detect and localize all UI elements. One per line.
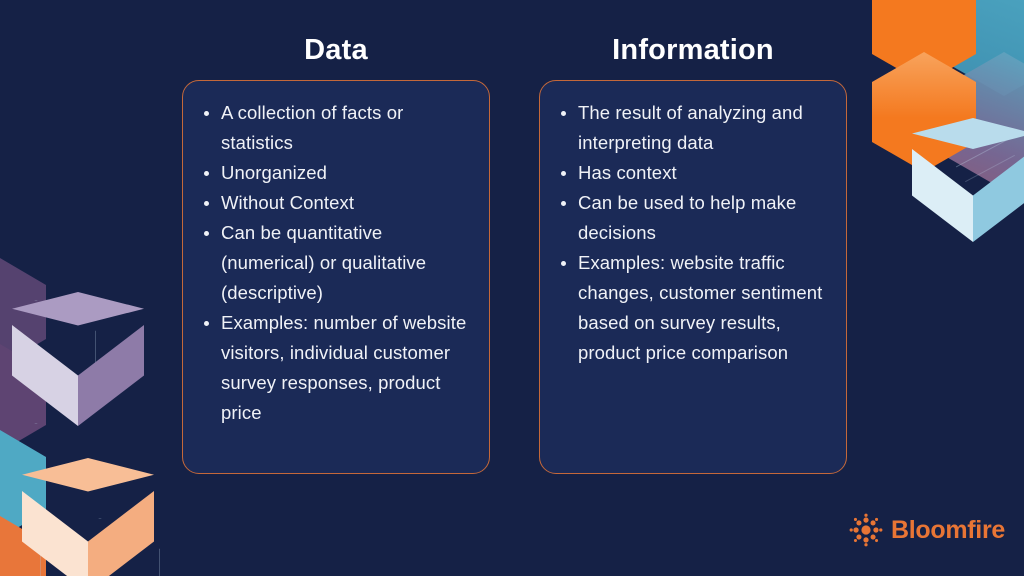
list-item: Examples: website traffic changes, custo… [552, 248, 834, 368]
teal-purple-hexagon-top-right [944, 52, 1024, 190]
card-information: The result of analyzing and interpreting… [539, 80, 847, 474]
bullet-list-data: A collection of facts or statistics Unor… [195, 98, 477, 428]
cube-face-right [973, 149, 1024, 242]
purple-hexagon-edge [0, 258, 46, 366]
orange-hexagon-upper [872, 0, 976, 84]
cube-face-top [12, 292, 144, 359]
cube-face-right [88, 491, 154, 576]
cube-face-top [912, 118, 1024, 180]
column-title-information: Information [539, 36, 847, 65]
column-data: Data A collection of facts or statistics… [182, 36, 490, 474]
teal-hexagon-edge [0, 430, 46, 538]
cube-face-left [22, 491, 88, 576]
list-item: A collection of facts or statistics [195, 98, 477, 158]
slide-canvas: Data A collection of facts or statistics… [0, 0, 1024, 576]
list-item: Has context [552, 158, 834, 188]
cube-face-right [78, 325, 144, 426]
bloomfire-logo: Bloomfire [849, 513, 1005, 547]
list-item: Can be used to help make decisions [552, 188, 834, 248]
accent-line [965, 155, 1015, 182]
peach-isometric-cube [22, 458, 154, 576]
accent-line [956, 134, 1018, 168]
teal-hexagon-top-right [944, 0, 1024, 96]
wireframe-hexagon [0, 300, 96, 424]
column-information: Information The result of analyzing and … [539, 36, 847, 474]
purple-hexagon-edge [0, 344, 46, 452]
bloomfire-wordmark: Bloomfire [891, 518, 1005, 543]
cube-face-left [12, 325, 78, 426]
cube-face-left [912, 149, 973, 242]
list-item: Examples: number of website visitors, in… [195, 308, 477, 428]
cube-face-top [22, 458, 154, 525]
wireframe-hexagon [40, 518, 160, 576]
bullet-list-information: The result of analyzing and interpreting… [552, 98, 834, 368]
card-data: A collection of facts or statistics Unor… [182, 80, 490, 474]
orange-hexagon-edge [0, 516, 46, 576]
light-blue-isometric-cube [912, 118, 1024, 242]
bloomfire-sunburst-icon [849, 513, 883, 547]
list-item: The result of analyzing and interpreting… [552, 98, 834, 158]
purple-isometric-cube [12, 292, 144, 426]
column-title-data: Data [182, 36, 490, 65]
list-item: Unorganized [195, 158, 477, 188]
list-item: Can be quantitative (numerical) or quali… [195, 218, 477, 308]
orange-hexagon-lower [872, 52, 976, 172]
list-item: Without Context [195, 188, 477, 218]
